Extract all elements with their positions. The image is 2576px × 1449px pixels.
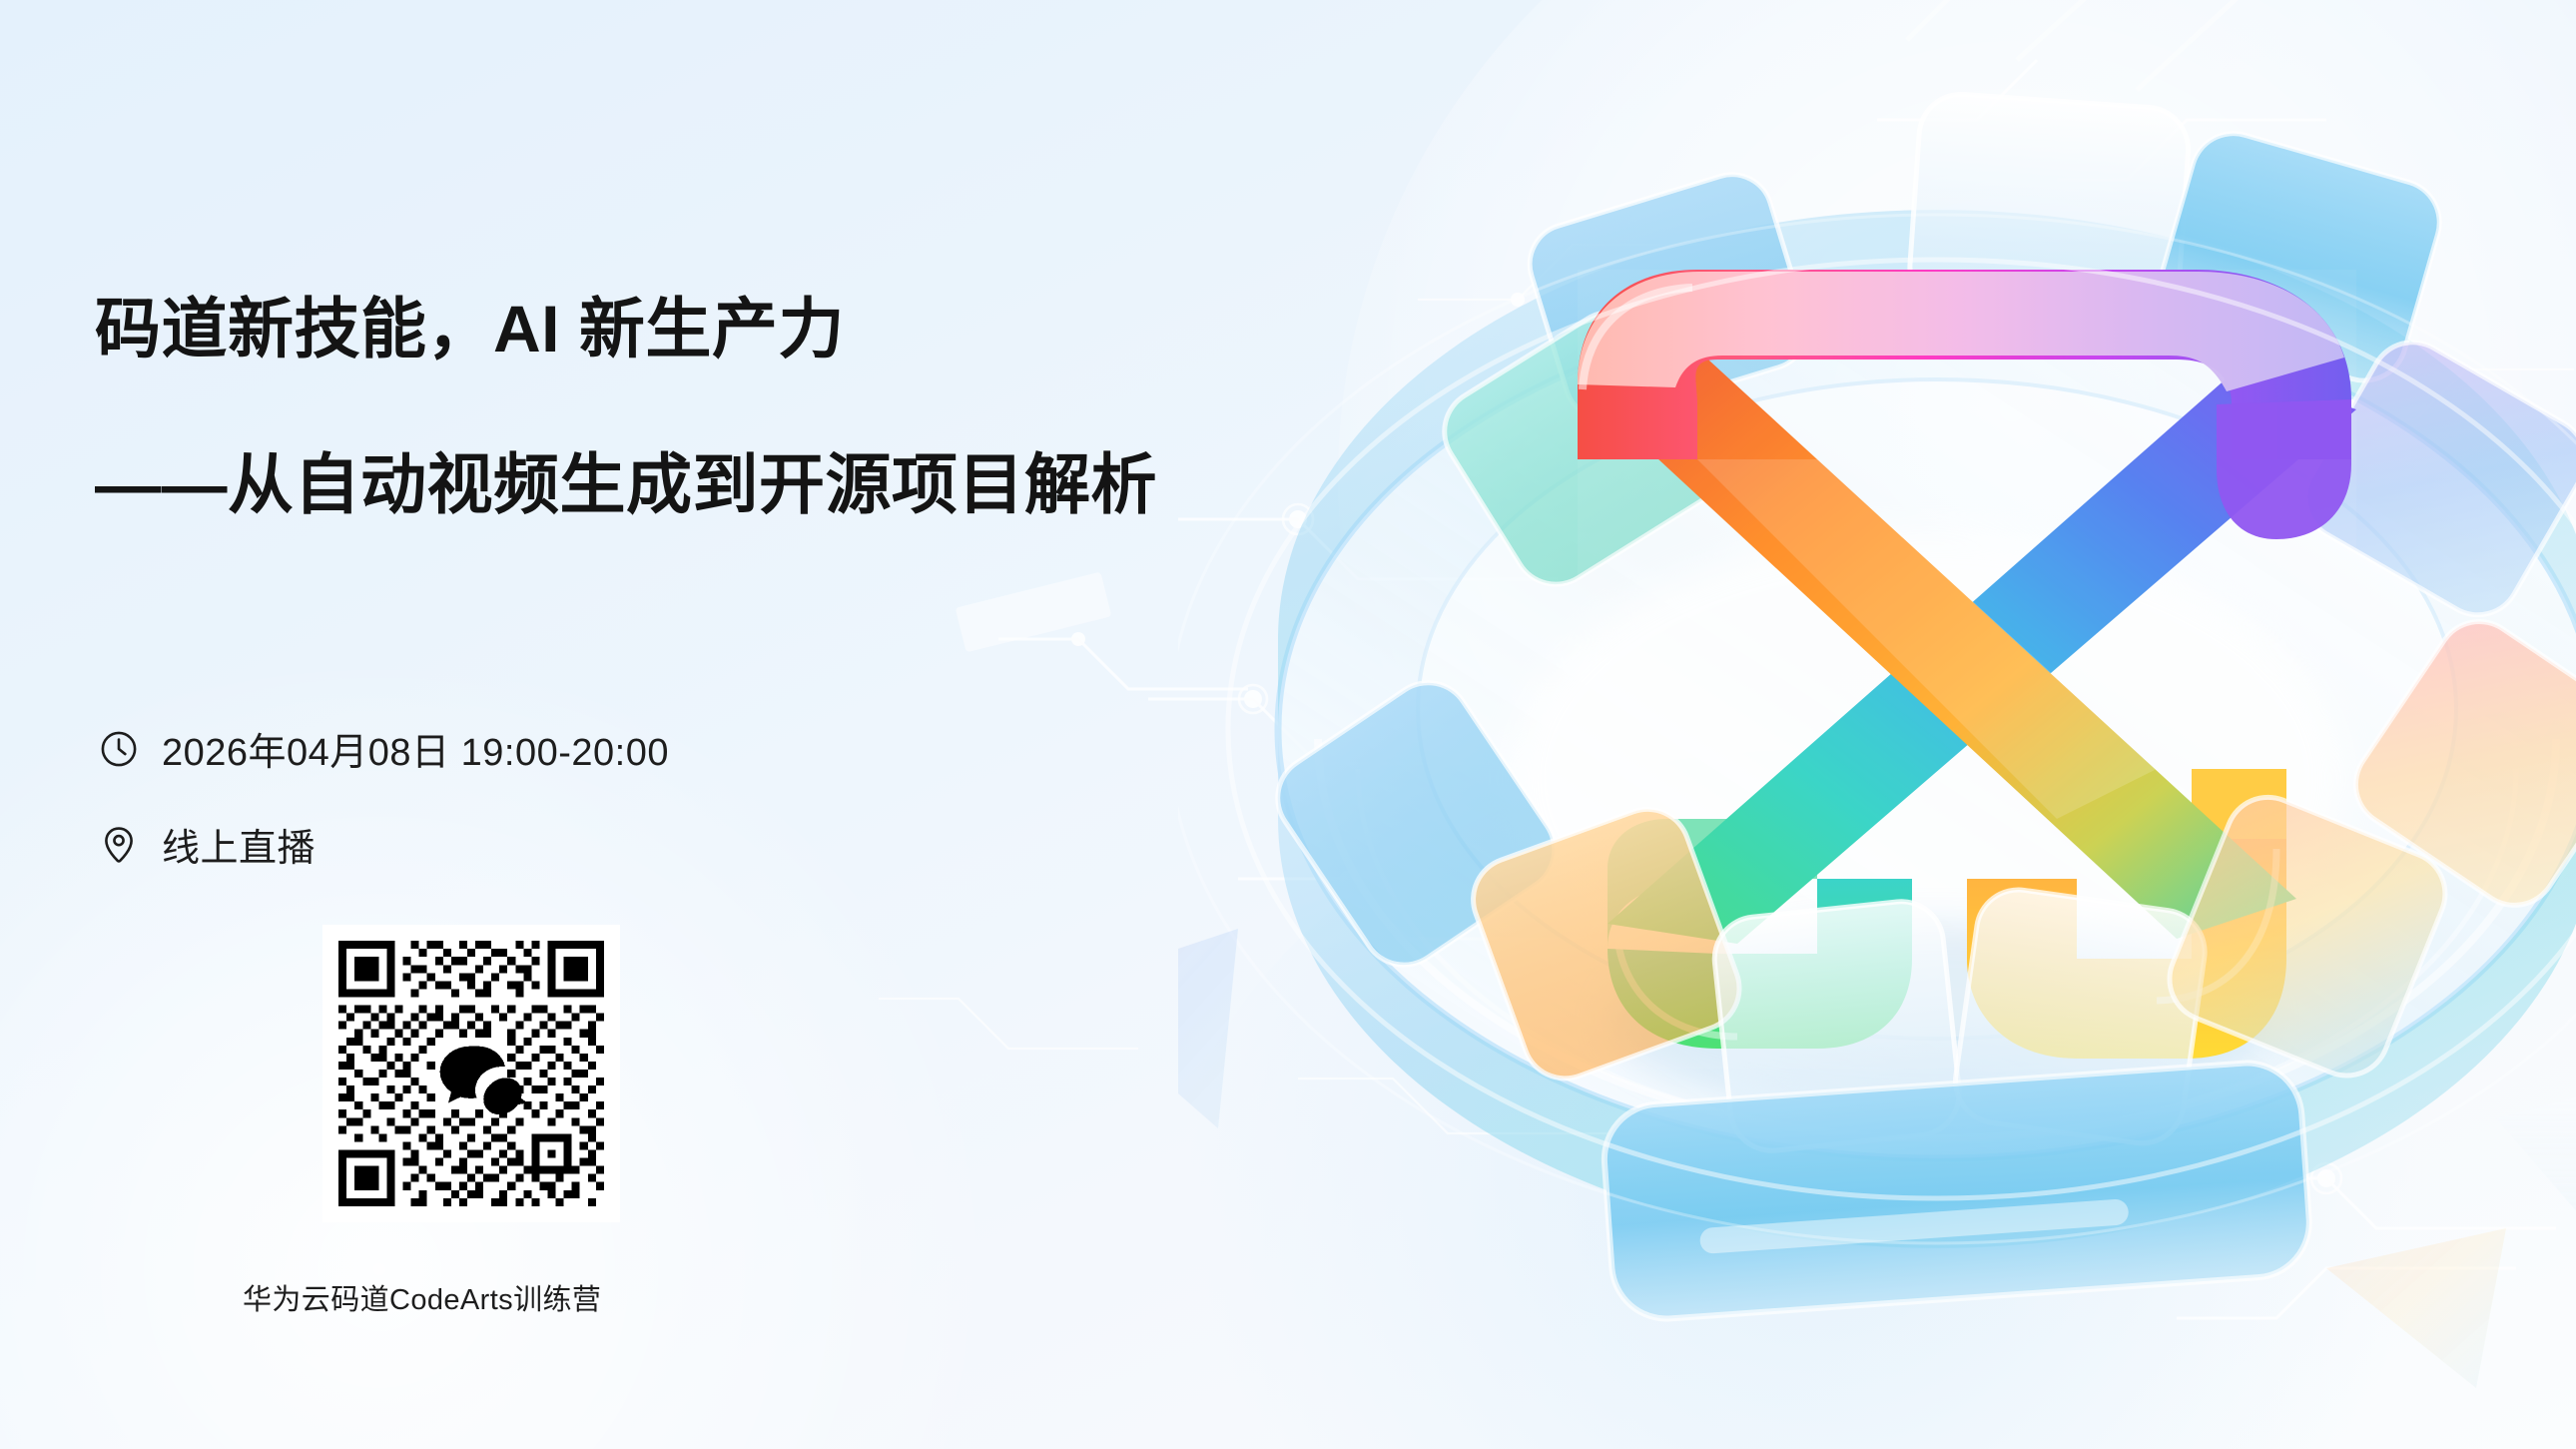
promo-banner: 码道新技能，AI 新生产力 ——从自动视频生成到开源项目解析 2026年04月0…	[0, 0, 2576, 1449]
qr-code[interactable]	[322, 925, 620, 1222]
glass-shards	[1178, 929, 2576, 1388]
clock-icon	[98, 728, 140, 770]
qr-caption: 华为云码道CodeArts训练营	[243, 1276, 702, 1318]
glass-ring-back	[1278, 300, 2576, 1158]
background-wash-top-right	[1338, 0, 2576, 1178]
event-place-row: 线上直播	[98, 817, 316, 872]
headline-line-1: 码道新技能，AI 新生产力	[95, 296, 845, 362]
background-wash-bottom-right	[1158, 750, 2456, 1449]
glass-ring-back-arc	[1278, 210, 2576, 729]
qr-code-matrix	[322, 925, 620, 1222]
event-time-row: 2026年04月08日 19:00-20:00	[98, 721, 669, 776]
headline-line-2: ——从自动视频生成到开源项目解析	[95, 451, 1157, 517]
event-time-text: 2026年04月08日 19:00-20:00	[162, 721, 669, 776]
rainbow-ribbon	[1578, 270, 2356, 1113]
event-place-text: 线上直播	[162, 817, 316, 872]
copy-block: 码道新技能，AI 新生产力 ——从自动视频生成到开源项目解析 2026年04月0…	[95, 0, 1243, 1449]
glass-panels-front	[1261, 605, 2576, 1322]
map-pin-icon	[98, 824, 140, 866]
glass-ring-front-arc	[1278, 729, 2576, 1248]
halo-rings	[1178, 215, 2576, 1243]
hero-artwork-3d-ribbon	[1178, 0, 2576, 1449]
glass-panels-back	[1429, 92, 2576, 630]
